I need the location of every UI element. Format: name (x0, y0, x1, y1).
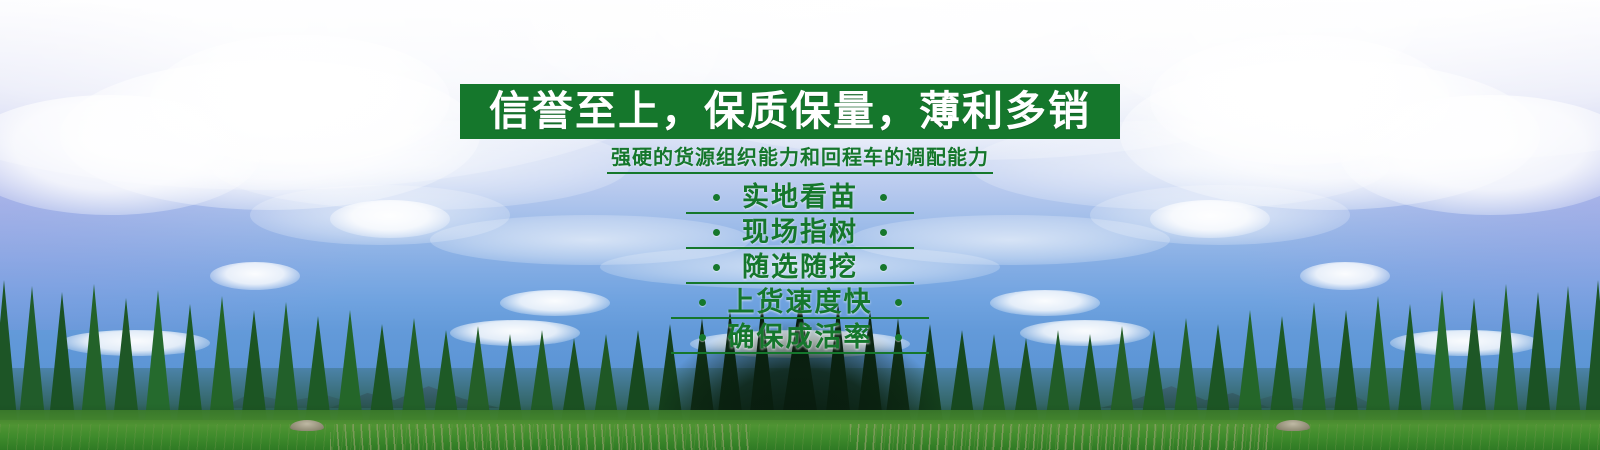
bullet-dot-icon (713, 264, 720, 271)
feature-item: 随选随挖 (0, 250, 1600, 285)
bullet-dot-icon (713, 229, 720, 236)
bullet-dot-icon (895, 334, 902, 341)
feature-item: 确保成活率 (0, 320, 1600, 355)
headline-text: 信誉至上，保质保量，薄利多销 (489, 91, 1091, 132)
feature-underline (686, 282, 914, 284)
feature-item: 实地看苗 (0, 180, 1600, 215)
subtitle-row: 强硬的货源组织能力和回程车的调配能力 (0, 146, 1600, 174)
feature-label: 实地看苗 (742, 184, 858, 211)
bullet-dot-icon (895, 299, 902, 306)
bullet-dot-icon (880, 194, 887, 201)
feature-list: 实地看苗 现场指树 随选随挖 上货速度快 (0, 180, 1600, 355)
feature-underline (686, 212, 914, 214)
bullet-dot-icon (880, 264, 887, 271)
subtitle-text: 强硬的货源组织能力和回程车的调配能力 (607, 146, 993, 174)
bullet-dot-icon (713, 194, 720, 201)
promo-banner: 信誉至上，保质保量，薄利多销 强硬的货源组织能力和回程车的调配能力 实地看苗 现… (0, 0, 1600, 450)
feature-label: 上货速度快 (728, 289, 873, 316)
feature-underline (671, 317, 929, 319)
feature-label: 随选随挖 (742, 254, 858, 281)
feature-item: 上货速度快 (0, 285, 1600, 320)
feature-underline (671, 352, 929, 354)
feature-item: 现场指树 (0, 215, 1600, 250)
banner-content: 信誉至上，保质保量，薄利多销 强硬的货源组织能力和回程车的调配能力 实地看苗 现… (0, 0, 1600, 450)
feature-label: 确保成活率 (728, 324, 873, 351)
bullet-dot-icon (880, 229, 887, 236)
headline-band: 信誉至上，保质保量，薄利多销 (460, 84, 1120, 139)
bullet-dot-icon (699, 334, 706, 341)
feature-underline (686, 247, 914, 249)
feature-label: 现场指树 (742, 219, 858, 246)
bullet-dot-icon (699, 299, 706, 306)
